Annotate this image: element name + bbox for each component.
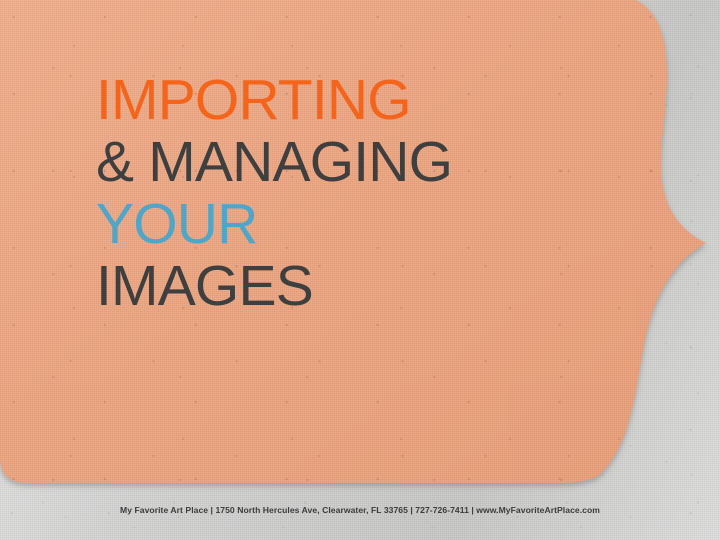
title-line-4: IMAGES: [96, 255, 616, 317]
presentation-slide: IMPORTING & MANAGING YOUR IMAGES My Favo…: [0, 0, 720, 540]
title-line-1: IMPORTING: [96, 69, 616, 131]
title-line-2: & MANAGING: [96, 131, 616, 193]
title-line-3: YOUR: [96, 193, 616, 255]
footer-contact-line: My Favorite Art Place | 1750 North Hercu…: [0, 505, 720, 515]
slide-title: IMPORTING & MANAGING YOUR IMAGES: [96, 69, 616, 317]
